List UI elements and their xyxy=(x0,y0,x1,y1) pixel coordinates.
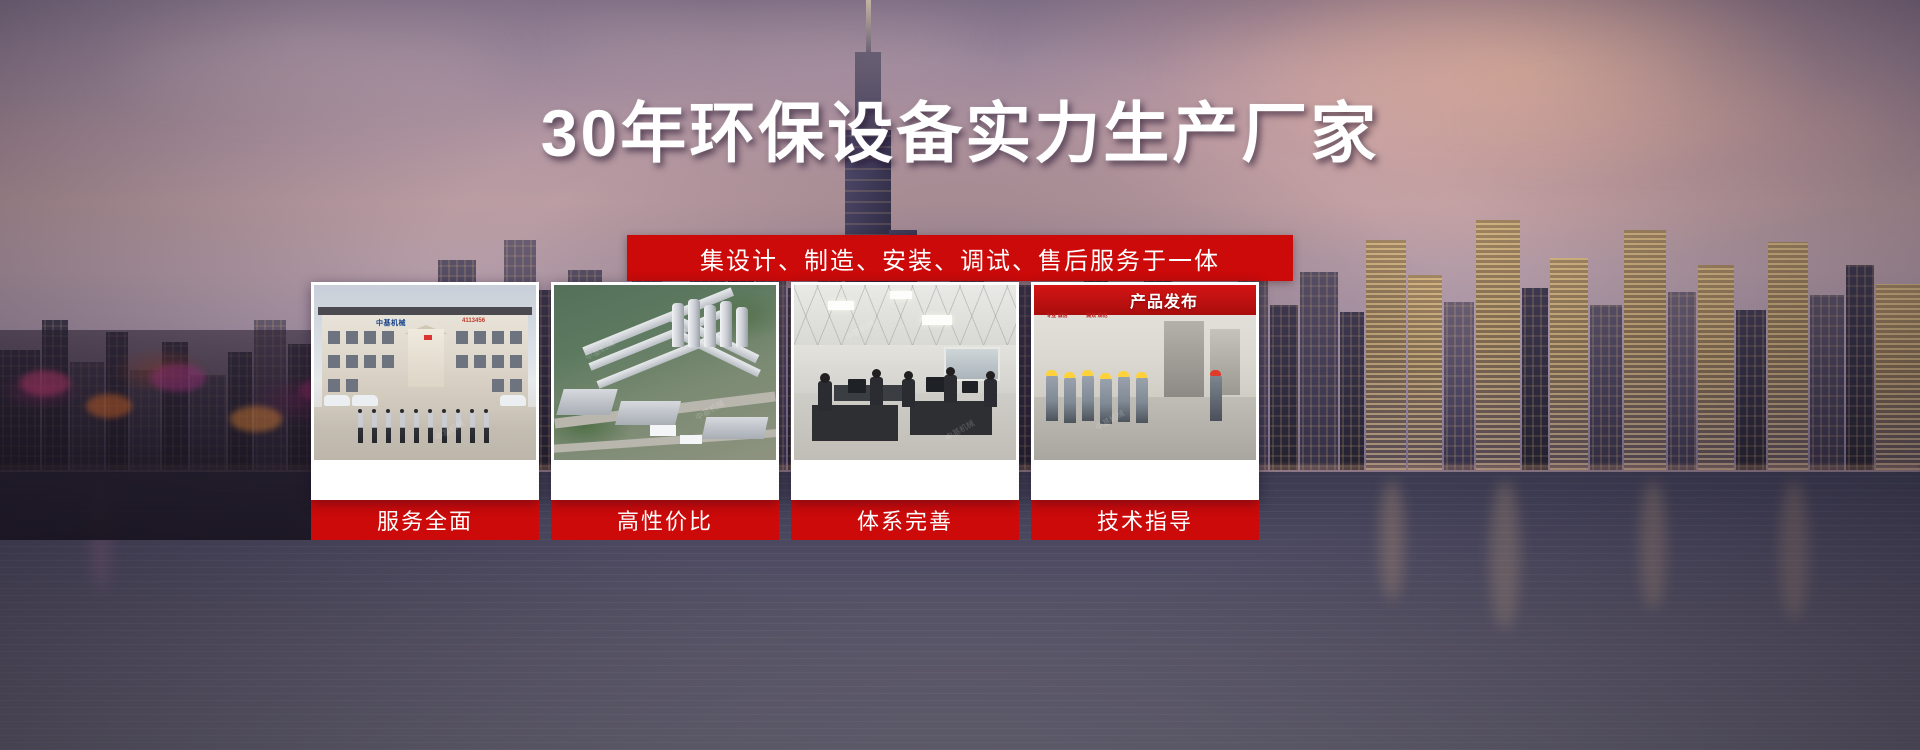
workshop-column-left: 专业 诚信 xyxy=(1040,313,1074,349)
card-caption: 高性价比 xyxy=(551,500,779,540)
workshop-banner-text: 产品发布 xyxy=(1130,288,1198,312)
card-thumbnail-industrial-plant: 中基机械 中基机械 xyxy=(554,285,776,460)
subtitle-text: 集设计、制造、安装、调试、售后服务于一体 xyxy=(700,241,1220,276)
feature-card[interactable]: 中基机械 中基机械 体系完善 xyxy=(791,282,1019,540)
card-caption-text: 服务全面 xyxy=(377,504,473,536)
card-thumbnail-office-interior: 中基机械 中基机械 xyxy=(794,285,1016,460)
page-title: 30年环保设备实力生产厂家 xyxy=(0,100,1920,166)
card-caption-text: 高性价比 xyxy=(617,504,713,536)
card-caption-text: 技术指导 xyxy=(1097,504,1193,536)
feature-card-list: 中基机械 4113456 xyxy=(311,282,1549,494)
feature-card[interactable]: 中基机械 中基机械 高性价比 xyxy=(551,282,779,540)
hero-banner: 30年环保设备实力生产厂家 集设计、制造、安装、调试、售后服务于一体 中基机械 … xyxy=(0,0,1920,750)
banner-content: 30年环保设备实力生产厂家 集设计、制造、安装、调试、售后服务于一体 中基机械 … xyxy=(0,0,1920,750)
feature-card[interactable]: 中基机械 4113456 xyxy=(311,282,539,540)
building-phone-text: 4113456 xyxy=(462,318,485,324)
building-sign-text: 中基机械 xyxy=(376,318,406,328)
card-caption: 服务全面 xyxy=(311,500,539,540)
card-caption: 技术指导 xyxy=(1031,500,1259,540)
card-caption-text: 体系完善 xyxy=(857,504,953,536)
workshop-column-right: 高效 规范 xyxy=(1080,313,1114,349)
card-thumbnail-office-building: 中基机械 4113456 xyxy=(314,285,536,460)
subtitle-bar: 集设计、制造、安装、调试、售后服务于一体 xyxy=(627,235,1293,281)
card-thumbnail-workshop: 产品发布 专业 诚信 高效 规范 xyxy=(1034,285,1256,460)
card-caption: 体系完善 xyxy=(791,500,1019,540)
feature-card[interactable]: 产品发布 专业 诚信 高效 规范 xyxy=(1031,282,1259,540)
